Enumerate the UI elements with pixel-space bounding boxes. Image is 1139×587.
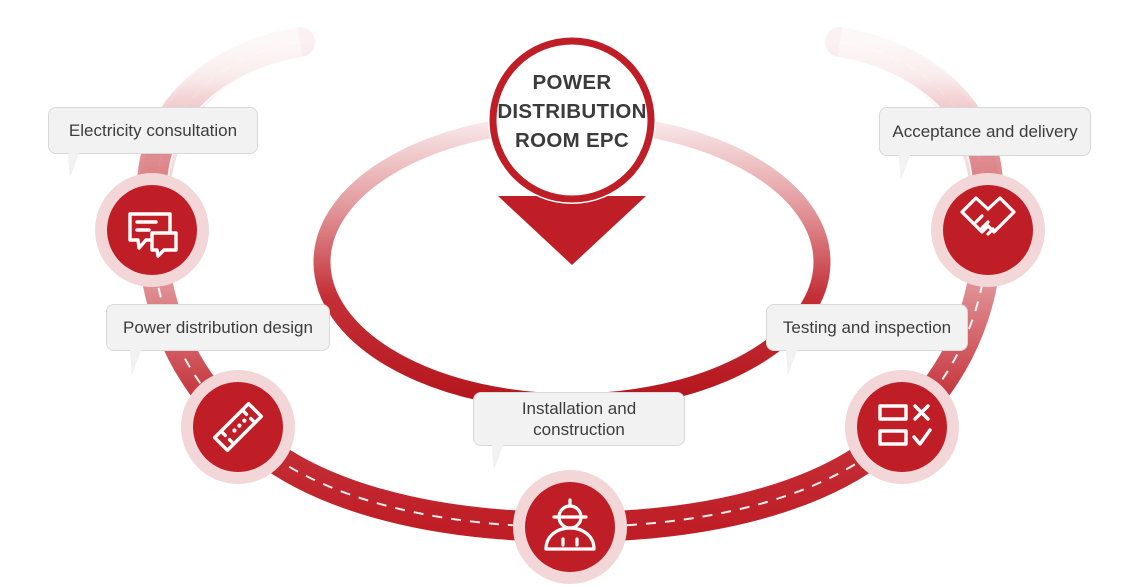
step-label-4-tail — [786, 350, 797, 374]
pin-circle-fill — [488, 36, 656, 204]
step-node-4[interactable] — [845, 370, 959, 484]
step-node-2[interactable] — [181, 370, 295, 484]
step-label-2[interactable]: Power distribution design — [106, 304, 330, 351]
pin-tail-shape — [498, 196, 646, 265]
step-label-3-tail — [492, 445, 503, 469]
step-label-3-line-1: Installation and — [522, 398, 636, 419]
step-label-4[interactable]: Testing and inspection — [766, 304, 968, 351]
step-node-3[interactable] — [513, 470, 627, 584]
step-label-5-tail — [899, 155, 910, 179]
step-label-1-tail — [68, 153, 79, 177]
step-label-1[interactable]: Electricity consultation — [48, 107, 258, 154]
step-node-5[interactable] — [931, 173, 1045, 287]
step-node-1[interactable] — [95, 173, 209, 287]
node-4-disc — [857, 382, 947, 472]
step-label-3-line-2: construction — [533, 419, 625, 440]
step-label-5[interactable]: Acceptance and delivery — [879, 107, 1091, 156]
process-cycle-graphic — [0, 0, 1139, 587]
center-map-pin — [488, 36, 656, 265]
node-5-disc — [943, 185, 1033, 275]
step-label-2-tail — [130, 350, 141, 374]
node-1-disc — [107, 185, 197, 275]
step-label-3[interactable]: Installation and construction — [473, 392, 685, 446]
diagram-canvas: POWER DISTRIBUTION ROOM EPC Electricity … — [0, 0, 1139, 587]
